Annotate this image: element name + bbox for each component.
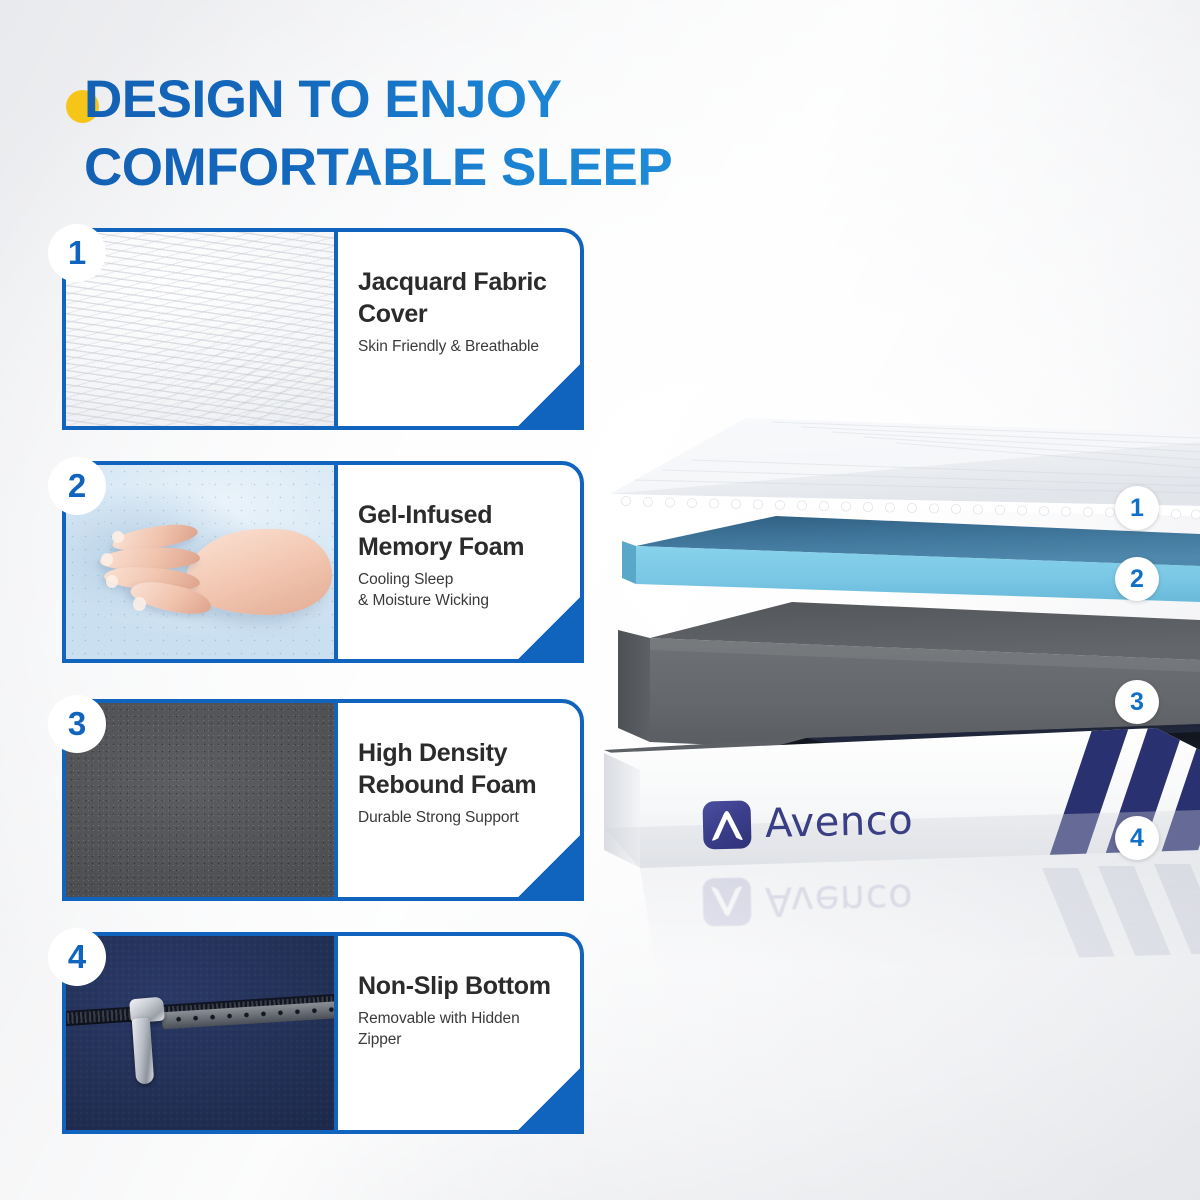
- corner-wedge-4: [518, 1068, 580, 1130]
- layer-badge-3: 3: [1115, 680, 1159, 724]
- headline-line-2: COMFORTABLE SLEEP: [66, 134, 766, 202]
- jacquard-texture-overlay: [66, 232, 334, 426]
- feature-card-4[interactable]: Non-Slip Bottom Removable with Hidden Zi…: [62, 932, 584, 1134]
- feature-text-2: Gel-Infused Memory Foam Cooling Sleep & …: [338, 465, 580, 659]
- feature-badge-4: 4: [48, 928, 106, 986]
- feature-badge-3: 3: [48, 695, 106, 753]
- mattress-layer-1-cover: [610, 418, 1200, 519]
- corner-wedge-1: [518, 364, 580, 426]
- page-title: DESIGN TO ENJOY COMFORTABLE SLEEP: [66, 66, 766, 202]
- feature-photo-1: [66, 232, 338, 426]
- fingernail-3: [106, 575, 118, 588]
- feature-title-3: High Density Rebound Foam: [358, 737, 564, 801]
- feature-photo-4: [66, 936, 338, 1130]
- brand-name-reflection: Avenco: [764, 874, 913, 924]
- feature-card-2[interactable]: Gel-Infused Memory Foam Cooling Sleep & …: [62, 461, 584, 663]
- feature-badge-2: 2: [48, 457, 106, 515]
- fingernail-4: [133, 597, 146, 611]
- feature-photo-2: [66, 465, 338, 659]
- brand-logo: Avenco: [702, 796, 913, 849]
- mattress-layer-2-gel-foam: [622, 516, 1200, 602]
- feature-photo-3: [66, 703, 338, 897]
- feature-badge-1: 1: [48, 224, 106, 282]
- feature-title-2: Gel-Infused Memory Foam: [358, 499, 564, 563]
- layer-badge-1: 1: [1115, 486, 1159, 530]
- feature-title-4: Non-Slip Bottom: [358, 970, 564, 1002]
- feature-title-1: Jacquard Fabric Cover: [358, 266, 564, 330]
- feature-text-3: High Density Rebound Foam Durable Strong…: [338, 703, 580, 897]
- feature-card-1[interactable]: Jacquard Fabric Cover Skin Friendly & Br…: [62, 228, 584, 430]
- brand-logo-reflection: Avenco: [702, 873, 913, 926]
- navy-fabric-weave: [66, 936, 334, 1130]
- corner-wedge-3: [518, 835, 580, 897]
- mattress-exploded-view: Avenco Avenco 1 2 3 4: [596, 398, 1200, 1018]
- fingernail-2: [101, 553, 113, 566]
- gray-foam-grain: [66, 703, 334, 897]
- brand-name: Avenco: [764, 797, 913, 847]
- feature-subtitle-4: Removable with Hidden Zipper: [358, 1009, 564, 1050]
- fingernail-1: [112, 531, 124, 543]
- feature-text-1: Jacquard Fabric Cover Skin Friendly & Br…: [338, 232, 580, 426]
- feature-card-3[interactable]: High Density Rebound Foam Durable Strong…: [62, 699, 584, 901]
- infographic-page: DESIGN TO ENJOY COMFORTABLE SLEEP 1 Jacq…: [0, 0, 1200, 1200]
- layer-badge-4: 4: [1115, 816, 1159, 860]
- feature-text-4: Non-Slip Bottom Removable with Hidden Zi…: [338, 936, 580, 1130]
- feature-subtitle-1: Skin Friendly & Breathable: [358, 337, 564, 358]
- feature-subtitle-3: Durable Strong Support: [358, 808, 564, 829]
- layer-badge-2: 2: [1115, 557, 1159, 601]
- corner-wedge-2: [518, 597, 580, 659]
- avenco-peak-logo-icon: [702, 800, 751, 849]
- avenco-peak-logo-icon-reflection: [702, 877, 751, 926]
- hand-illustration-icon: [90, 505, 325, 630]
- headline-line-1: DESIGN TO ENJOY: [66, 66, 766, 134]
